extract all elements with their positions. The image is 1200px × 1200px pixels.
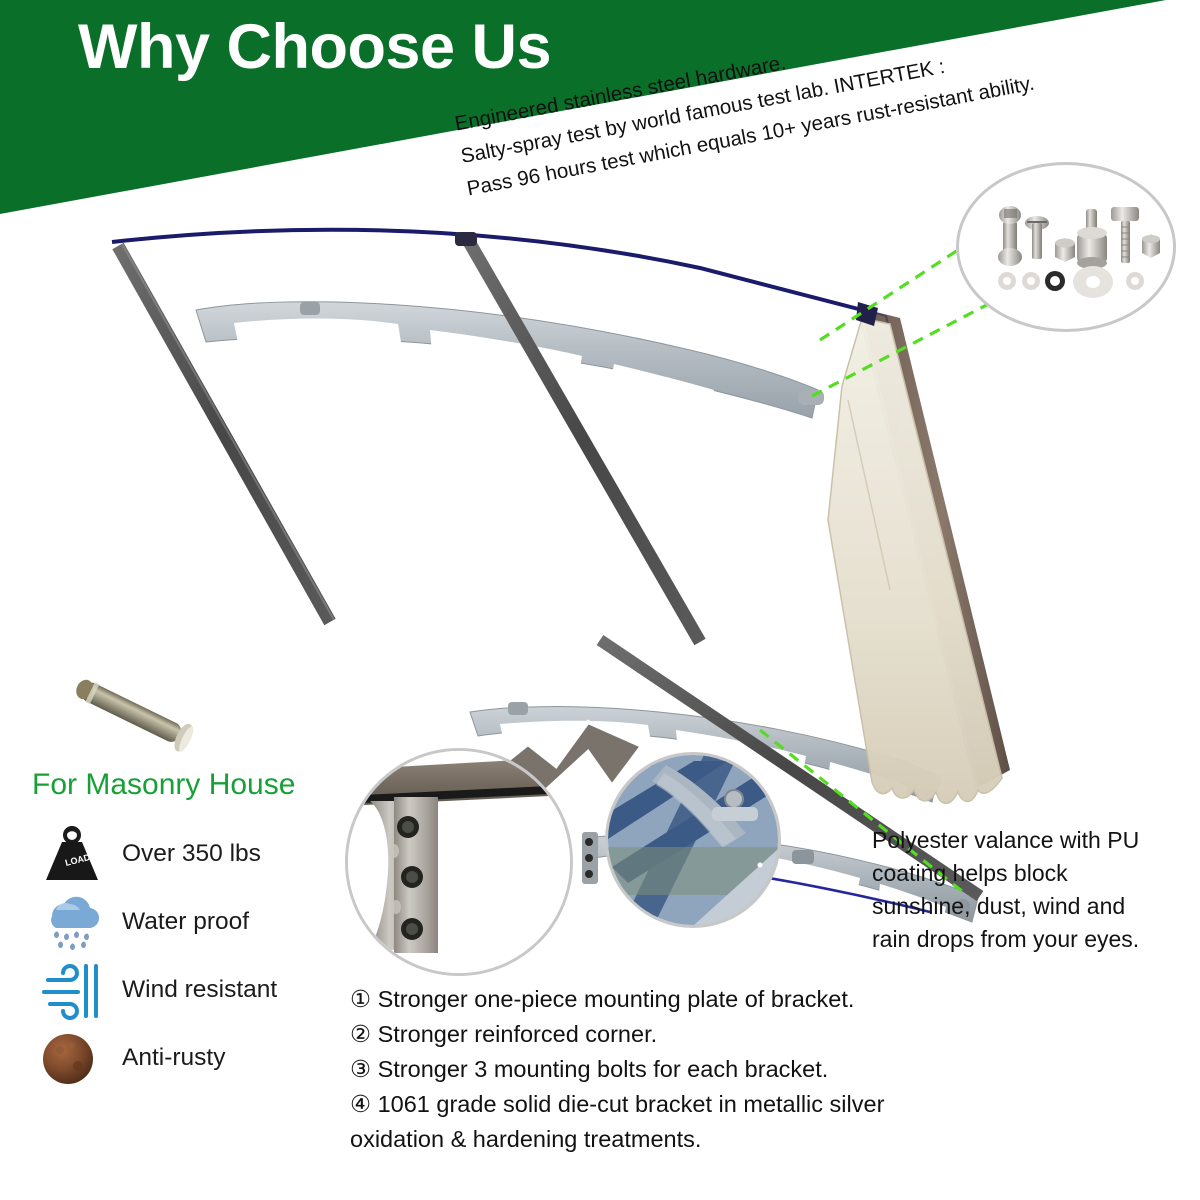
feature-label-wind: Wind resistant <box>122 976 277 1004</box>
feature-label-water: Water proof <box>122 908 249 936</box>
wind-icon <box>36 958 108 1022</box>
numbered-item-4-cont: oxidation & hardening treatments. <box>350 1122 970 1157</box>
numbered-item-1: ① Stronger one-piece mounting plate of b… <box>350 982 970 1017</box>
awning-rail-upper <box>118 244 334 622</box>
feature-list: LOAD Over 350 lbs <box>36 820 346 1092</box>
feature-row-water: Water proof <box>36 888 346 956</box>
feature-label-rust: Anti-rusty <box>122 1044 225 1072</box>
awning-rail-mid <box>468 240 700 642</box>
feature-row-rust: Anti-rusty <box>36 1024 346 1092</box>
page-title: Why Choose Us <box>78 12 551 83</box>
valance-note-line-4: rain drops from your eyes. <box>872 923 1182 956</box>
valance-note-line-1: Polyester valance with PU <box>872 824 1182 857</box>
feature-label-load: Over 350 lbs <box>122 840 261 868</box>
rail-cap-1 <box>455 232 477 246</box>
infographic-canvas: Why Choose Us Engineered stainless steel… <box>0 0 1200 1200</box>
feature-numbered-list: ① Stronger one-piece mounting plate of b… <box>350 982 970 1156</box>
feature-row-load: LOAD Over 350 lbs <box>36 820 346 888</box>
rain-cloud-icon <box>36 890 108 954</box>
barrel-bolt-icon <box>1077 209 1107 269</box>
thumb-screw-icon <box>1111 207 1139 263</box>
numbered-item-3: ③ Stronger 3 mounting bolts for each bra… <box>350 1052 970 1087</box>
small-nut-icon <box>1055 238 1075 262</box>
pan-screw-icon <box>1025 216 1049 259</box>
numbered-item-2: ② Stronger reinforced corner. <box>350 1017 970 1052</box>
hex-nut-icon <box>1142 234 1160 258</box>
rusty-ball-icon <box>36 1026 108 1090</box>
masonry-house-title: For Masonry House <box>32 768 295 802</box>
valance-note: Polyester valance with PU coating helps … <box>872 824 1182 956</box>
feature-row-wind: Wind resistant <box>36 956 346 1024</box>
bracket-detail-inset <box>345 748 573 976</box>
numbered-item-4: ④ 1061 grade solid die-cut bracket in me… <box>350 1087 970 1122</box>
stud-bolt-icon <box>998 206 1022 266</box>
load-weight-icon: LOAD <box>36 822 108 886</box>
hardware-inset <box>956 162 1176 332</box>
front-bar-and-valance <box>828 302 1010 803</box>
masonry-anchor-bolt <box>55 672 215 757</box>
valance-note-line-3: sunshine, dust, wind and <box>872 890 1182 923</box>
valance-note-line-2: coating helps block <box>872 857 1182 890</box>
valance-detail-inset <box>605 752 781 928</box>
washers-row <box>998 266 1144 298</box>
